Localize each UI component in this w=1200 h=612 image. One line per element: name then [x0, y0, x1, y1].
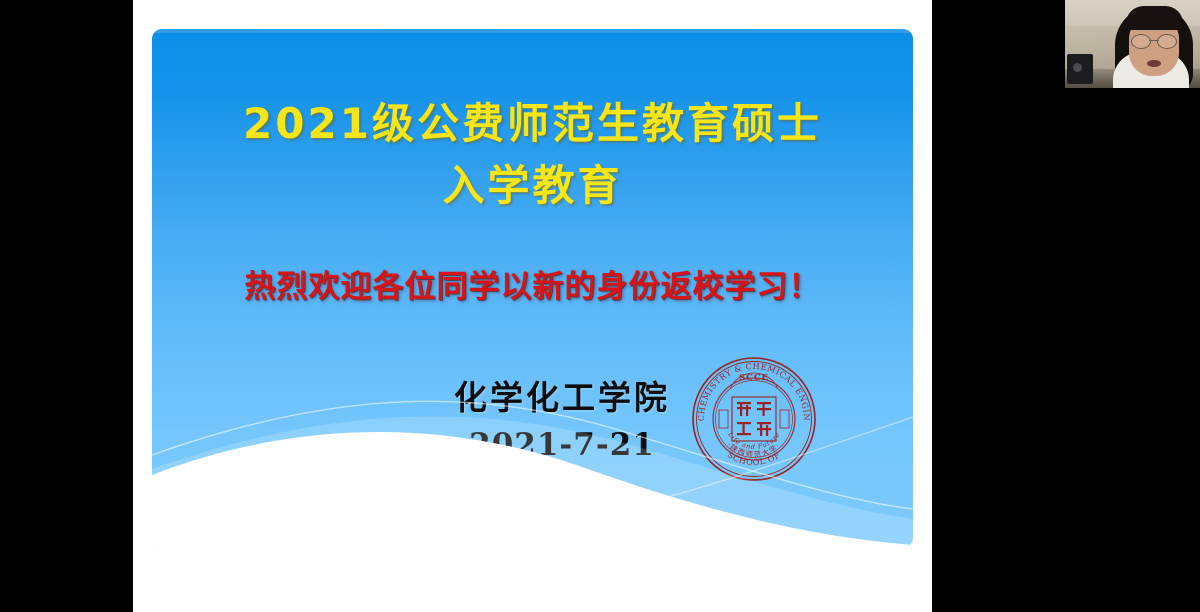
- slide-title-line-1: 2021级公费师范生教育硕士: [152, 93, 913, 155]
- glasses-left-lens: [1131, 34, 1151, 49]
- slide-title-line-2: 入学教育: [152, 155, 913, 217]
- glasses-right-lens: [1157, 34, 1177, 49]
- slide-content-panel: 2021级公费师范生教育硕士 入学教育 热烈欢迎各位同学以新的身份返校学习！ 化…: [152, 29, 913, 548]
- slide-title: 2021级公费师范生教育硕士 入学教育: [152, 93, 913, 217]
- webcam-monitor-object: [1067, 54, 1093, 84]
- panel-top-sheen: [152, 29, 913, 33]
- slide-page: 2021级公费师范生教育硕士 入学教育 热烈欢迎各位同学以新的身份返校学习！ 化…: [133, 0, 932, 612]
- screen-root: 2021级公费师范生教育硕士 入学教育 热烈欢迎各位同学以新的身份返校学习！ 化…: [0, 0, 1200, 612]
- presenter-hair-top: [1126, 6, 1183, 30]
- presenter-mouth: [1147, 60, 1161, 67]
- wave-decoration: [152, 359, 913, 548]
- slide-subtitle-text: 热烈欢迎各位同学以新的身份返校学习！: [245, 269, 821, 305]
- presenter-webcam-video[interactable]: [1065, 0, 1200, 88]
- presenter-glasses: [1131, 34, 1177, 47]
- slide-subtitle: 热烈欢迎各位同学以新的身份返校学习！: [152, 265, 913, 309]
